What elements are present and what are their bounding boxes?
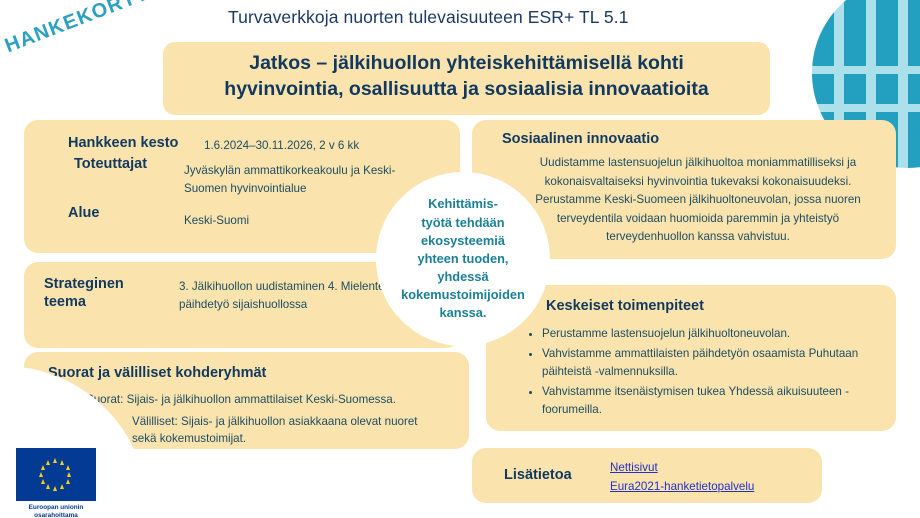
decorative-grid-cell [908, 112, 920, 168]
callout-line: työtä tehdään [378, 214, 548, 232]
value-duration: 1.6.2024–30.11.2026, 2 v 6 kk [204, 137, 359, 154]
value-implementers: Jyväskylän ammattikorkeakoulu ja Keski-S… [184, 162, 424, 198]
more-info-link-1[interactable]: Nettisivut [610, 459, 754, 478]
decorative-grid-cell [844, 0, 866, 66]
heading-social-innovation: Sosiaalinen innovaatio [502, 130, 659, 148]
decorative-grid-cell [908, 74, 920, 104]
decorative-grid-cell [844, 74, 866, 104]
project-title-line-2: hyvinvointia, osallisuutta ja sosiaalisi… [179, 77, 754, 103]
more-info-links: NettisivutEura2021-hanketietopalvelu [610, 459, 754, 496]
callout-line: ekosysteemiä [378, 232, 548, 250]
eu-caption-line-2: osarahoittama [8, 512, 104, 518]
text-direct-target-group: Suorat: Sijais- ja jälkihuollon ammattil… [86, 391, 396, 408]
text-social-innovation: Uudistamme lastensuojelun jälkihuoltoa m… [512, 154, 884, 247]
eu-star-icon [53, 458, 57, 463]
callout-text: Kehittämis-työtä tehdäänekosysteemiäyhte… [378, 195, 548, 322]
more-info-link-2[interactable]: Eura2021-hanketietopalvelu [610, 478, 754, 497]
value-area: Keski-Suomi [184, 212, 249, 229]
eu-logo-caption: Euroopan unionin osarahoittama [8, 504, 104, 518]
list-item: Vahvistamme itsenäistymisen tukea Yhdess… [542, 383, 882, 418]
eu-funding-logo: Euroopan unionin osarahoittama [8, 448, 104, 518]
program-title: Turvaverkkoja nuorten tulevaisuuteen ESR… [228, 7, 788, 28]
decorative-grid-cell [812, 0, 834, 66]
callout-line: Kehittämis- [378, 195, 548, 213]
eu-star-icon [41, 479, 45, 484]
project-title-banner: Jatkos – jälkihuollon yhteiskehittämisel… [163, 42, 770, 115]
callout-line: kanssa. [378, 304, 548, 322]
eu-star-icon [41, 465, 45, 470]
eu-star-icon [66, 479, 70, 484]
eu-caption-line-1: Euroopan unionin [8, 504, 104, 512]
project-card-slide: HANKEKORTTI Turvaverkkoja nuorten tuleva… [0, 0, 920, 518]
decorative-grid-cell [876, 74, 898, 104]
list-item: Vahvistamme ammattilaisten päihdetyön os… [542, 345, 882, 380]
label-duration: Hankkeen kesto [68, 134, 178, 152]
decorative-grid-cell [812, 74, 834, 104]
label-implementers: Toteuttajat [74, 155, 147, 173]
eu-star-icon [66, 465, 70, 470]
card-more-info: Lisätietoa NettisivutEura2021-hanketieto… [472, 448, 822, 503]
callout-line: kokemustoimijoiden [378, 286, 548, 304]
decorative-grid-cell [908, 0, 920, 66]
eu-star-icon [60, 460, 64, 465]
eu-star-icon [60, 484, 64, 489]
hankekortti-badge: HANKEKORTTI [2, 0, 158, 58]
list-item: Perustamme lastensuojelun jälkihuoltoneu… [542, 325, 882, 342]
label-strategic-theme: Strateginen teema [44, 276, 164, 311]
project-title-line-1: Jatkos – jälkihuollon yhteiskehittämisel… [179, 51, 754, 77]
callout-line: yhdessä [378, 268, 548, 286]
eu-flag-icon [16, 448, 96, 501]
decorative-grid-cell [876, 0, 898, 66]
label-more-info: Lisätietoa [504, 466, 572, 484]
callout-line: yhteen tuoden, [378, 250, 548, 268]
list-key-actions: Perustamme lastensuojelun jälkihuoltoneu… [526, 325, 882, 421]
eu-star-icon [67, 472, 71, 477]
text-indirect-target-group: Välilliset: Sijais- ja jälkihuollon asia… [132, 413, 432, 448]
eu-star-icon [46, 484, 50, 489]
eu-star-icon [39, 472, 43, 477]
callout-circle: Kehittämis-työtä tehdäänekosysteemiäyhte… [376, 172, 550, 346]
label-area: Alue [68, 204, 99, 222]
heading-target-groups: Suorat ja välilliset kohderyhmät [48, 364, 266, 382]
heading-key-actions: Keskeiset toimenpiteet [546, 297, 704, 315]
eu-star-icon [53, 486, 57, 491]
eu-star-icon [46, 460, 50, 465]
